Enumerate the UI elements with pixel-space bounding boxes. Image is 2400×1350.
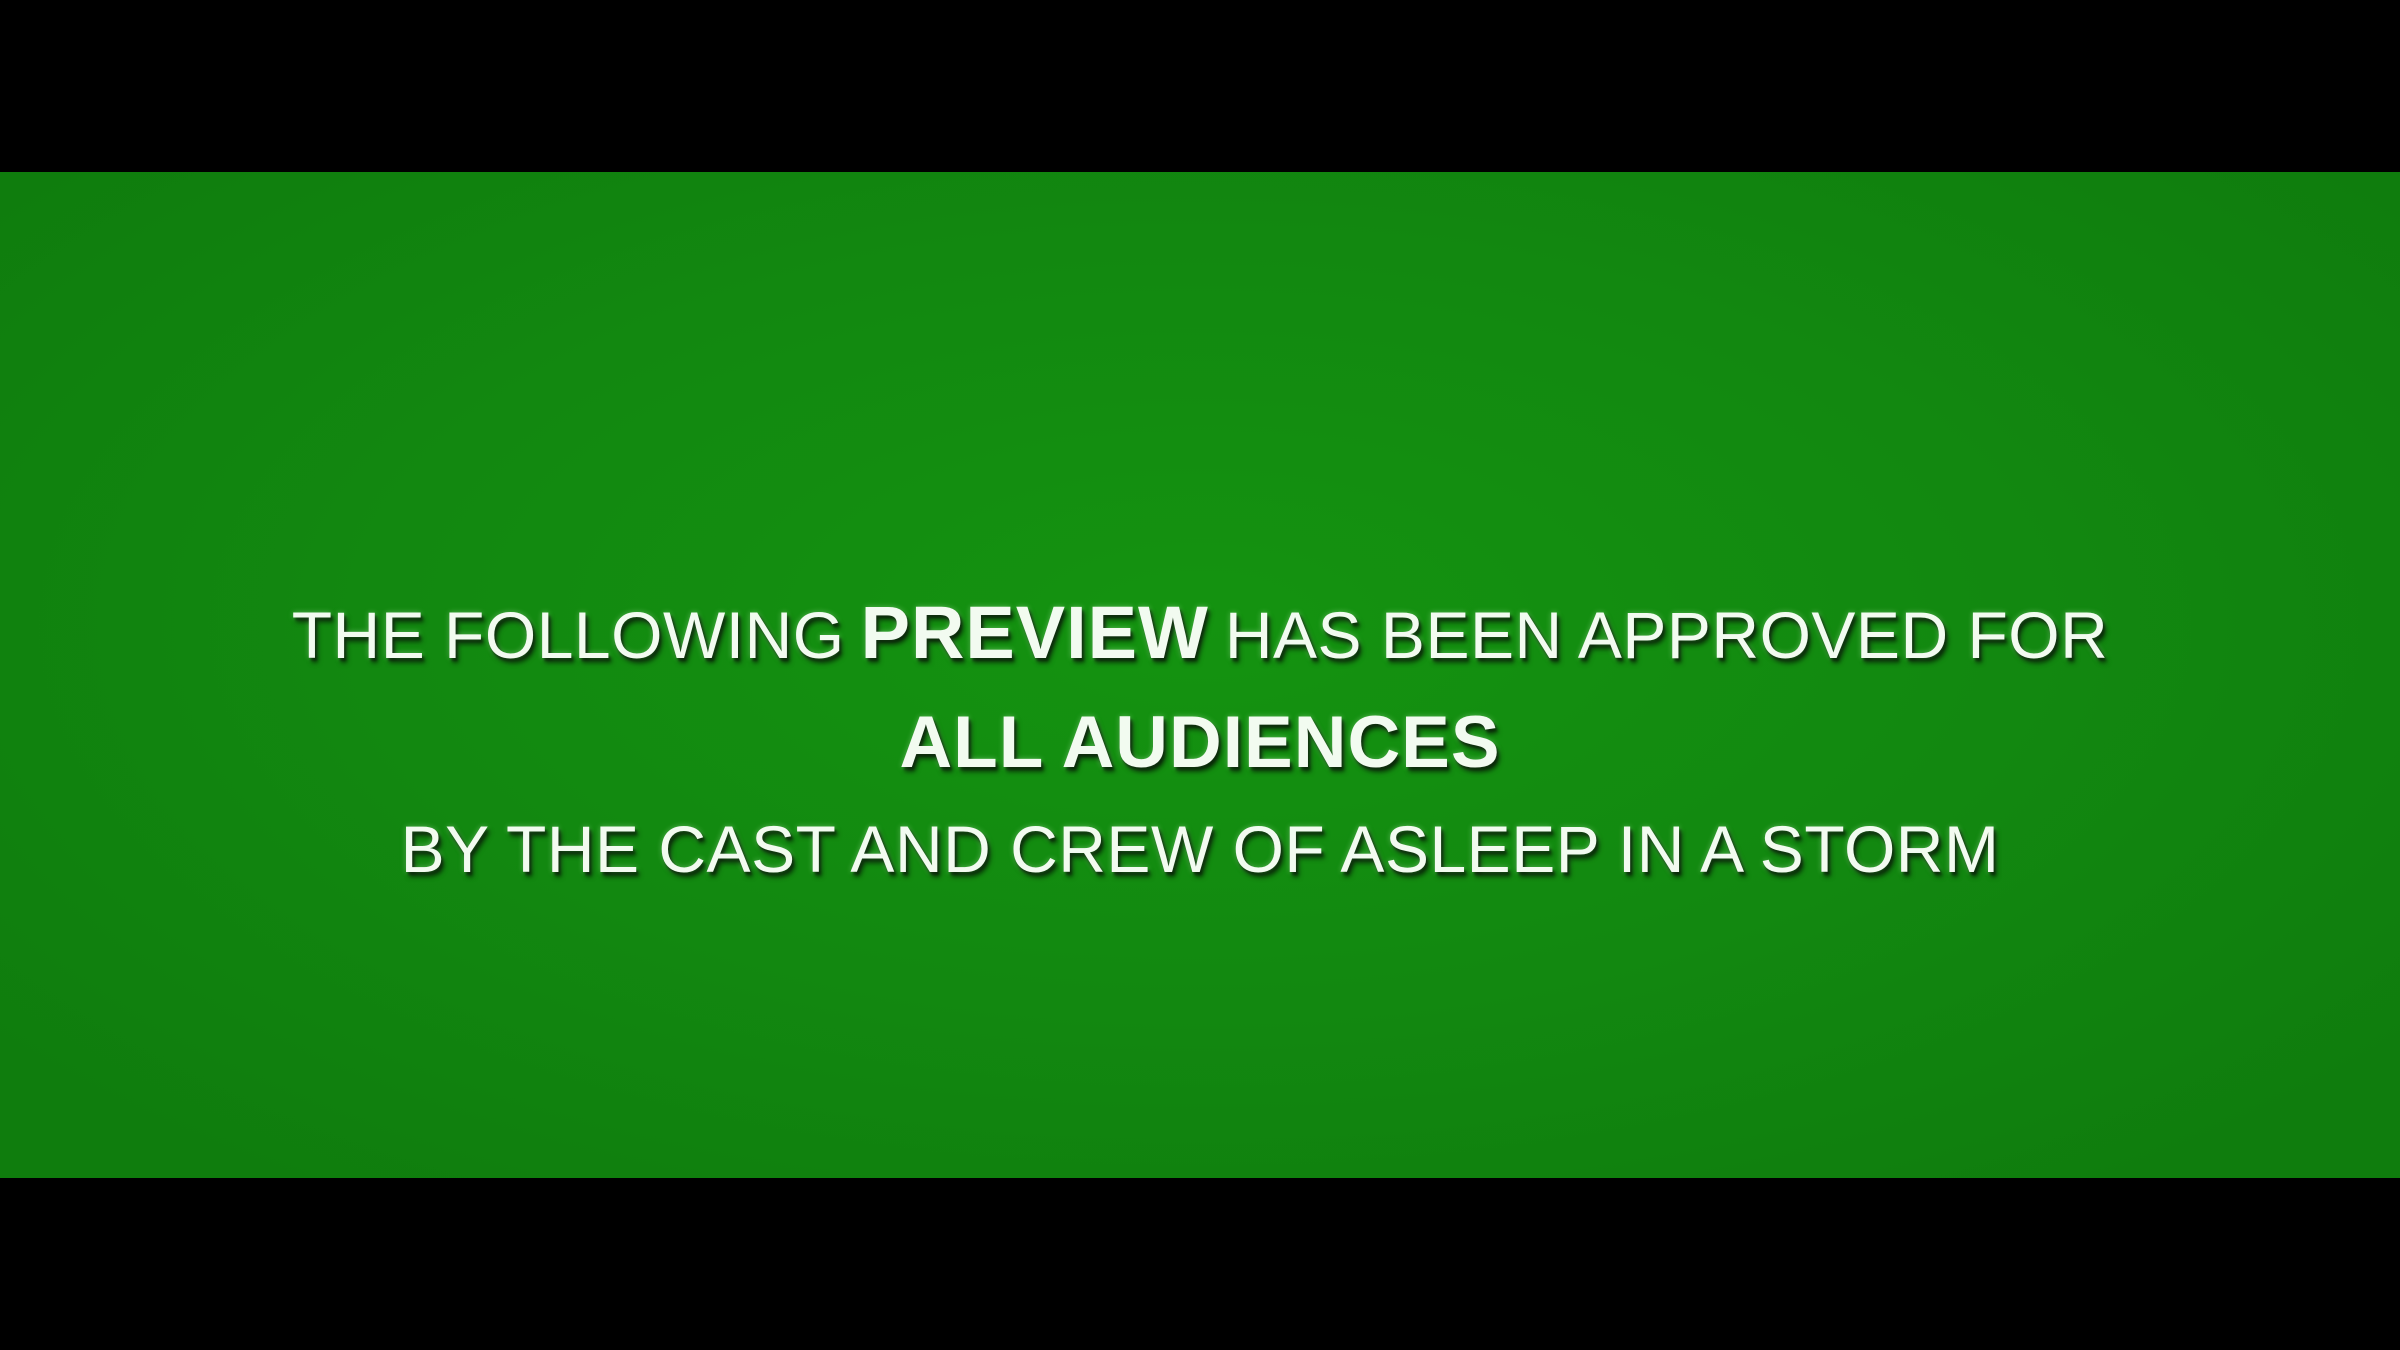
rating-audience-line: ALL AUDIENCES <box>0 706 2400 779</box>
rating-attribution-line: BY THE CAST AND CREW OF ASLEEP IN A STOR… <box>0 816 2400 882</box>
rating-approval-suffix: HAS BEEN APPROVED FOR <box>1225 598 2108 672</box>
letterbox-bar-bottom <box>0 1178 2400 1350</box>
letterbox-bar-top <box>0 0 2400 172</box>
video-frame: THE FOLLOWINGPREVIEWHAS BEEN APPROVED FO… <box>0 0 2400 1350</box>
rating-approval-prefix: THE FOLLOWING <box>292 598 845 672</box>
rating-card: THE FOLLOWINGPREVIEWHAS BEEN APPROVED FO… <box>0 172 2400 1178</box>
rating-approval-line: THE FOLLOWINGPREVIEWHAS BEEN APPROVED FO… <box>0 596 2400 670</box>
rating-approval-emphasis-preview: PREVIEW <box>845 591 1225 674</box>
